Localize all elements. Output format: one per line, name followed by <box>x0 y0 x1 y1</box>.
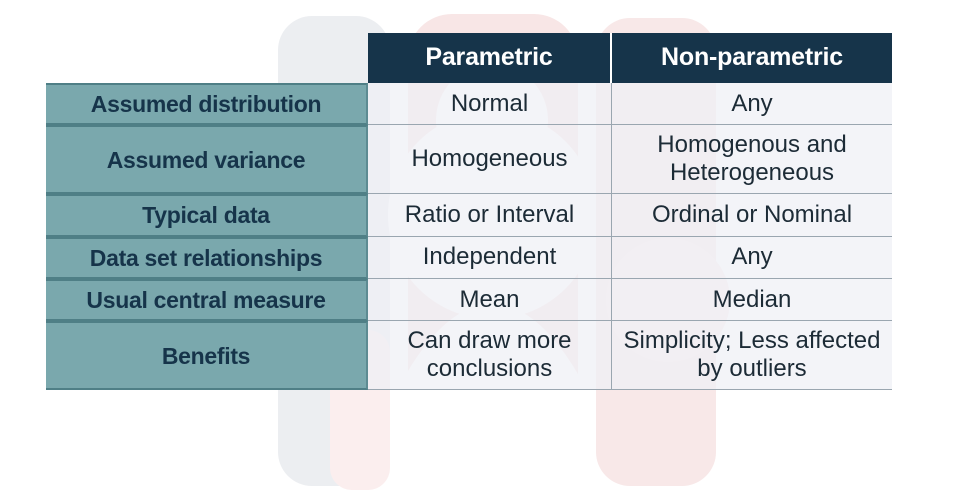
cell-assumed-distribution-non-parametric: Any <box>612 83 892 125</box>
row-label-assumed-variance: Assumed variance <box>46 125 368 194</box>
table-body: Assumed distribution Normal Any Assumed … <box>46 83 892 390</box>
table-row: Benefits Can draw more conclusions Simpl… <box>46 321 892 390</box>
table-row: Assumed distribution Normal Any <box>46 83 892 125</box>
parametric-vs-nonparametric-table: Parametric Non-parametric Assumed distri… <box>46 33 892 390</box>
table-row: Assumed variance Homogeneous Homogenous … <box>46 125 892 194</box>
row-label-usual-central-measure: Usual central measure <box>46 279 368 321</box>
cell-typical-data-non-parametric: Ordinal or Nominal <box>612 194 892 236</box>
cell-benefits-parametric: Can draw more conclusions <box>368 321 612 390</box>
cell-typical-data-parametric: Ratio or Interval <box>368 194 612 236</box>
cell-usual-central-measure-parametric: Mean <box>368 279 612 321</box>
row-label-typical-data: Typical data <box>46 194 368 236</box>
row-label-benefits: Benefits <box>46 321 368 390</box>
header-row: Parametric Non-parametric <box>46 33 892 83</box>
column-header-non-parametric: Non-parametric <box>612 33 892 83</box>
cell-data-set-relationships-parametric: Independent <box>368 237 612 279</box>
column-header-parametric: Parametric <box>368 33 612 83</box>
cell-data-set-relationships-non-parametric: Any <box>612 237 892 279</box>
row-label-data-set-relationships: Data set relationships <box>46 237 368 279</box>
table-row: Typical data Ratio or Interval Ordinal o… <box>46 194 892 236</box>
table-row: Usual central measure Mean Median <box>46 279 892 321</box>
table-row: Data set relationships Independent Any <box>46 237 892 279</box>
row-label-assumed-distribution: Assumed distribution <box>46 83 368 125</box>
header-corner-cell <box>46 33 368 83</box>
cell-benefits-non-parametric: Simplicity; Less affected by outliers <box>612 321 892 390</box>
cell-assumed-variance-parametric: Homogeneous <box>368 125 612 194</box>
cell-usual-central-measure-non-parametric: Median <box>612 279 892 321</box>
cell-assumed-variance-non-parametric: Homogenous and Heterogeneous <box>612 125 892 194</box>
table-header: Parametric Non-parametric <box>46 33 892 83</box>
cell-assumed-distribution-parametric: Normal <box>368 83 612 125</box>
